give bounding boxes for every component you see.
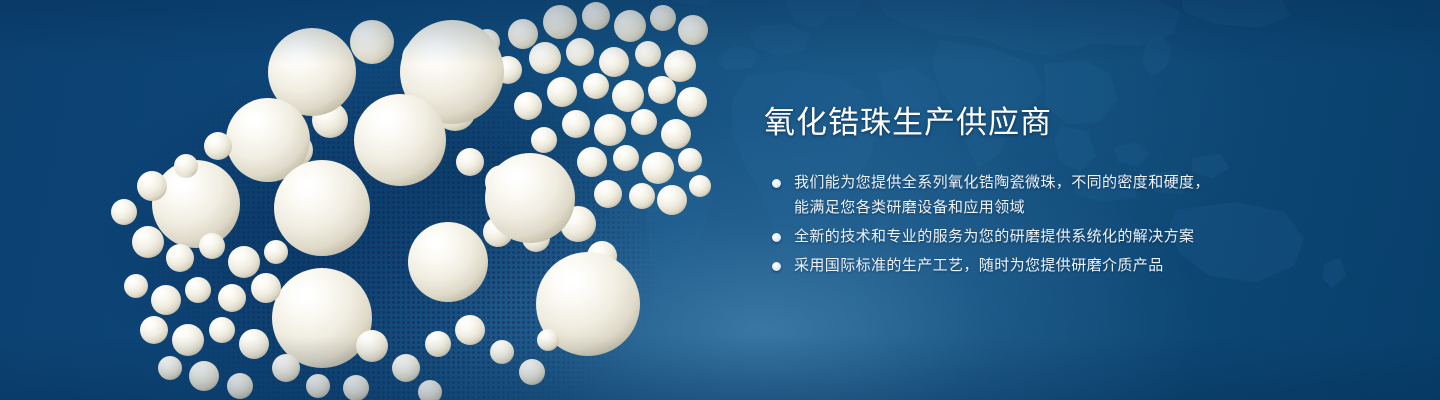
bullet-dot-icon <box>772 179 781 188</box>
bullet-text-line1: 采用国际标准的生产工艺，随时为您提供研磨介质产品 <box>794 253 1324 278</box>
banner-copy: 氧化锆珠生产供应商 我们能为您提供全系列氧化锆陶瓷微珠，不同的密度和硬度， 能满… <box>764 102 1324 278</box>
list-item: 我们能为您提供全系列氧化锆陶瓷微珠，不同的密度和硬度， 能满足您各类研磨设备和应… <box>764 170 1324 220</box>
bullet-text-line1: 全新的技术和专业的服务为您的研磨提供系统化的解决方案 <box>794 224 1324 249</box>
bullet-dot-icon <box>772 262 781 271</box>
banner-feature-list: 我们能为您提供全系列氧化锆陶瓷微珠，不同的密度和硬度， 能满足您各类研磨设备和应… <box>764 170 1324 278</box>
bullet-text-line1: 我们能为您提供全系列氧化锆陶瓷微珠，不同的密度和硬度， <box>794 170 1324 195</box>
bullet-text-line2: 能满足您各类研磨设备和应用领域 <box>794 195 1324 220</box>
list-item: 采用国际标准的生产工艺，随时为您提供研磨介质产品 <box>764 253 1324 278</box>
hero-banner: 氧化锆珠生产供应商 我们能为您提供全系列氧化锆陶瓷微珠，不同的密度和硬度， 能满… <box>0 0 1440 400</box>
bullet-dot-icon <box>772 233 781 242</box>
banner-headline: 氧化锆珠生产供应商 <box>764 102 1324 144</box>
list-item: 全新的技术和专业的服务为您的研磨提供系统化的解决方案 <box>764 224 1324 249</box>
